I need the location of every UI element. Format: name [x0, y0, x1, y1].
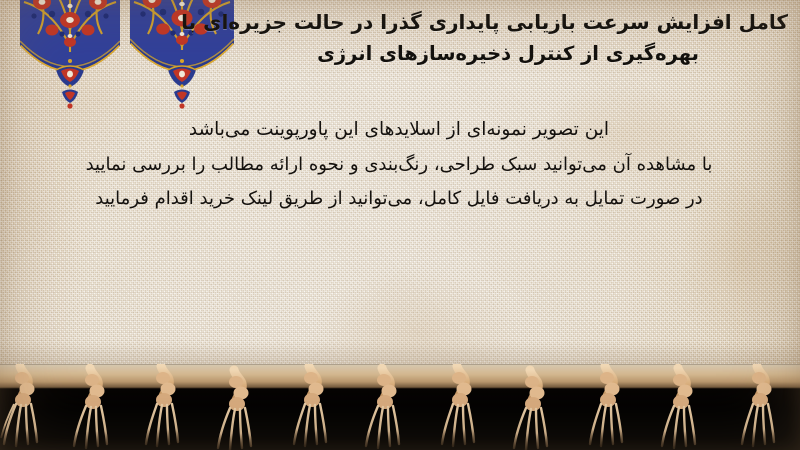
slide-title: کامل افزایش سرعت بازیابی پایداری گذرا در… — [228, 6, 788, 70]
body-line-3: در صورت تمایل به دریافت فایل کامل، می‌تو… — [8, 182, 790, 217]
carpet-tassel-fringe — [0, 364, 800, 450]
fringe-tassels — [0, 364, 800, 450]
body-line-1: این تصویر نمونه‌ای از اسلایدهای این پاور… — [8, 112, 790, 148]
title-line-2: بهره‌گیری از کنترل ذخیره‌سازهای انرژی — [228, 38, 788, 70]
slide-body: این تصویر نمونه‌ای از اسلایدهای این پاور… — [8, 112, 790, 217]
presentation-slide: کامل افزایش سرعت بازیابی پایداری گذرا در… — [0, 0, 800, 450]
title-line-1: کامل افزایش سرعت بازیابی پایداری گذرا در… — [228, 6, 788, 38]
body-line-2: با مشاهده آن می‌توانید سبک طراحی، رنگ‌بن… — [8, 148, 790, 183]
